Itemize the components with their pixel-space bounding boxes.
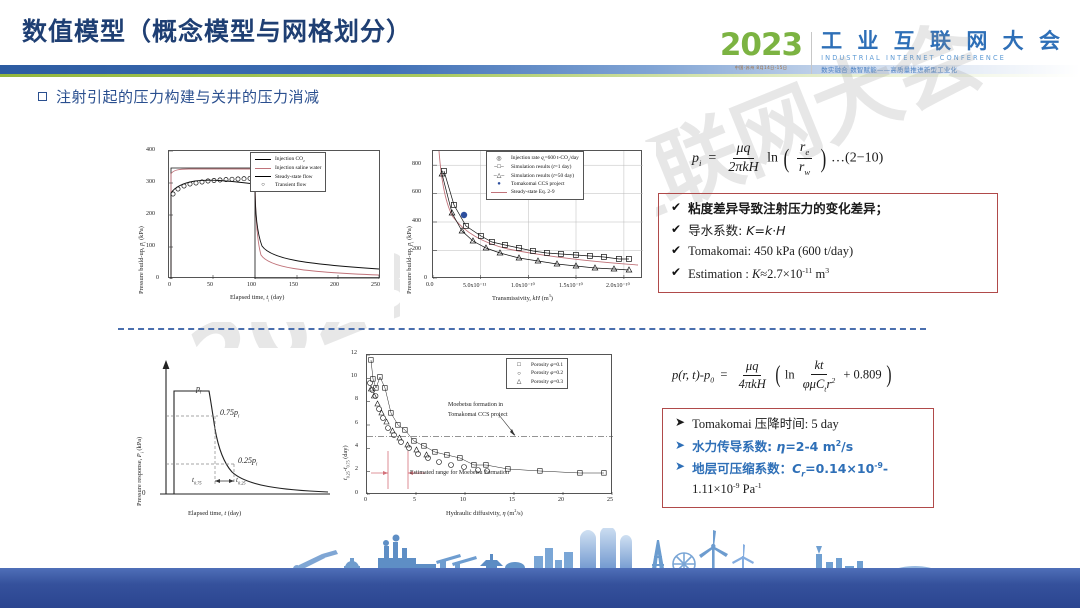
chart1-xtick: 200 bbox=[330, 282, 339, 288]
circle-open-icon: ○ bbox=[511, 371, 527, 377]
eq1-fraction: μq 2πkH bbox=[725, 141, 761, 176]
callout-item: ✔ Estimation : K≈2.7×10-11 m3 bbox=[671, 266, 985, 283]
chart2-x-axis-label: Transmissivity, kH (m3) bbox=[492, 293, 553, 302]
legend-item: ○ Transient flow bbox=[255, 181, 321, 189]
check-icon: ✔ bbox=[671, 266, 681, 279]
logo-year-subtitle: 中国·苏州 8月14日-15日 bbox=[735, 65, 788, 71]
callout-item: ✔ 粘度差异导致注射压力的变化差异； bbox=[671, 201, 985, 217]
legend-label: Simulation results (t=50 day) bbox=[511, 172, 574, 180]
legend-item: Injection saline water bbox=[255, 164, 321, 172]
equation-line-source: p(r, t)-p0 = μq 4πkH ( ln kt φμCtr2 + 0.… bbox=[672, 358, 893, 394]
chart4-ytick: 8 bbox=[355, 396, 358, 402]
legend-item: –△– Simulation results (t=50 day) bbox=[491, 172, 579, 180]
paren-close-icon: ) bbox=[886, 362, 891, 389]
callout-bottom: ➤ Tomakomai 压降时间: 5 day ➤ 水力传导系数: η=2-4 … bbox=[662, 408, 934, 508]
legend-label: Simulation results (t=1 day) bbox=[511, 163, 571, 171]
paren-open-icon: ( bbox=[783, 143, 789, 174]
callout-text: Tomakomai: 450 kPa (600 t/day) bbox=[688, 244, 853, 260]
eq1-inner-fraction: re rw bbox=[796, 140, 813, 177]
legend-item: □ Porosity φ=0.1 bbox=[511, 361, 563, 369]
header-accent-bar-green bbox=[0, 74, 1080, 77]
chart2-y-axis-label: Pressure build-up, pi (kPa) bbox=[406, 226, 414, 294]
callout-item: ✔ 导水系数: K=k·H bbox=[671, 223, 985, 239]
eq2-denominator: 4πkH bbox=[736, 376, 769, 392]
chart4-annotation-range: Estimated range for Moebetsu Formation bbox=[410, 470, 509, 476]
chart4-xtick: 0 bbox=[364, 497, 367, 503]
legend-label: Steady-state Eq. 2-9 bbox=[511, 188, 555, 196]
callout-item: ✔ Tomakomai: 450 kPa (600 t/day) bbox=[671, 244, 985, 260]
chart4-xtick: 25 bbox=[607, 497, 613, 503]
callout-text: 水力传导系数: η=2-4 m2/s bbox=[692, 439, 853, 455]
legend-item: ● Tomakomai CCS project bbox=[491, 180, 579, 188]
callout-text: 导水系数: K=k·H bbox=[688, 223, 786, 239]
legend-item: ◎ Injection rate qi=600 t-CO2/day bbox=[491, 154, 579, 163]
eq1-denominator: 2πkH bbox=[725, 159, 761, 176]
chart3-ytick-zero: 0 bbox=[142, 489, 146, 497]
line-black-icon bbox=[255, 176, 271, 177]
legend-item: Steady-state flow bbox=[255, 173, 321, 181]
arrow-right-icon: ➤ bbox=[675, 439, 685, 452]
chart1-ytick: 200 bbox=[146, 211, 155, 217]
chart1-x-axis-label: Elapsed time, ti (day) bbox=[230, 294, 284, 302]
chart1-ytick: 400 bbox=[146, 147, 155, 153]
chart2-ytick: 0 bbox=[424, 275, 427, 281]
eq2-inner-den: φμCtr2 bbox=[800, 375, 838, 394]
chart2-ytick: 800 bbox=[412, 161, 421, 167]
section-heading-label: 注射引起的压力构建与关井的压力消减 bbox=[56, 86, 320, 107]
legend-item: –□– Simulation results (t=1 day) bbox=[491, 163, 579, 171]
chart2-ytick: 400 bbox=[412, 218, 421, 224]
callout-top: ✔ 粘度差异导致注射压力的变化差异； ✔ 导水系数: K=k·H ✔ Tomak… bbox=[658, 193, 998, 293]
callout-item: ➤ 水力传导系数: η=2-4 m2/s bbox=[675, 439, 921, 455]
chart1-legend: Injection CO2 Injection saline water Ste… bbox=[250, 152, 326, 192]
callout-text: Tomakomai 压降时间: 5 day bbox=[692, 416, 839, 433]
equation-2-10: pi = μq 2πkH ln ( re rw ) …(2−10) bbox=[692, 140, 883, 177]
chart3-annotation-lower: 0.25pi bbox=[238, 456, 257, 468]
chart3-annotation-peak: pi bbox=[196, 384, 201, 396]
chart4-xtick: 20 bbox=[558, 497, 564, 503]
chart4-y-axis-label: t0.25-t0.75 (day) bbox=[342, 445, 350, 480]
chart4-annotation-line2: Tomakomai CCS project bbox=[448, 412, 508, 418]
chart1-ytick: 100 bbox=[146, 243, 155, 249]
chart4-ytick: 0 bbox=[355, 490, 358, 496]
callout-text: 地层可压缩系数：Cr=0.14×10-9- bbox=[692, 461, 888, 476]
conference-logo: 2023 中国·苏州 8月14日-15日 工 业 互 联 网 大 会 INDUS… bbox=[720, 30, 1064, 74]
paren-close-icon: ) bbox=[820, 143, 826, 174]
chart1-xtick: 0 bbox=[168, 282, 171, 288]
callout-text: Estimation : K≈2.7×10-11 m3 bbox=[688, 266, 829, 283]
check-icon: ✔ bbox=[671, 244, 681, 257]
chart2-xtick: 1.5x10⁻¹⁰ bbox=[559, 282, 583, 289]
chart4-x-axis-label: Hydraulic diffusivity, η (m2/s) bbox=[446, 508, 523, 517]
line-black-icon bbox=[255, 159, 271, 160]
callout-item: ➤ 地层可压缩系数：Cr=0.14×10-9- 1.11×10-9 Pa-1 bbox=[675, 460, 921, 497]
chart4-legend: □ Porosity φ=0.1 ○ Porosity φ=0.2 △ Poro… bbox=[506, 358, 568, 389]
check-icon: ✔ bbox=[671, 223, 681, 236]
triangle-open-icon: △ bbox=[511, 379, 527, 385]
chart1-xtick: 150 bbox=[289, 282, 298, 288]
arrow-right-icon: ➤ bbox=[675, 416, 685, 429]
legend-label: Transient flow bbox=[275, 181, 306, 189]
chart3-annotation-t025: t0.25 bbox=[236, 476, 246, 485]
legend-item: Steady-state Eq. 2-9 bbox=[491, 188, 579, 196]
callout-text: 粘度差异导致注射压力的变化差异； bbox=[688, 201, 888, 217]
line-red-icon bbox=[491, 192, 507, 193]
chart4-ytick: 4 bbox=[355, 443, 358, 449]
chart3-annotation-upper: 0.75pi bbox=[220, 408, 239, 420]
logo-slogan: 数实融合 数智赋能——高质量推进新型工业化 bbox=[821, 65, 1064, 74]
legend-item: Injection CO2 bbox=[255, 155, 321, 164]
chart2-xtick: 0.0 bbox=[426, 282, 434, 288]
eq2-fraction: μq 4πkH bbox=[736, 359, 769, 392]
footer-water-gradient bbox=[0, 568, 1080, 608]
chart1-ytick: 300 bbox=[146, 179, 155, 185]
chart3-x-axis-label: Elapsed time, t (day) bbox=[188, 510, 241, 517]
chart-pressure-buildup-time: Pressure build-up, pi (kPa) bbox=[132, 142, 394, 322]
chart4-xtick: 10 bbox=[460, 497, 466, 503]
arrow-right-icon: ➤ bbox=[675, 460, 685, 473]
legend-item: △ Porosity φ=0.3 bbox=[511, 378, 563, 386]
chart4-xtick: 15 bbox=[509, 497, 515, 503]
chart1-xtick: 250 bbox=[371, 282, 380, 288]
eq2-numerator: μq bbox=[743, 359, 762, 376]
legend-label: Porosity φ=0.1 bbox=[531, 361, 563, 369]
chart1-xtick: 50 bbox=[207, 282, 213, 288]
eq2-inner-num: kt bbox=[811, 358, 826, 375]
legend-label: Steady-state flow bbox=[275, 173, 313, 181]
logo-year-block: 2023 中国·苏州 8月14日-15日 bbox=[720, 30, 802, 71]
square-line-icon: –□– bbox=[491, 164, 507, 170]
eq1-inner-den: rw bbox=[796, 159, 813, 177]
triangle-line-icon: –△– bbox=[491, 173, 507, 179]
square-bullet-icon bbox=[38, 92, 47, 101]
slide-root: 数值模型（概念模型与网格划分） 2023 中国·苏州 8月14日-15日 工 业… bbox=[0, 0, 1080, 608]
eq1-numerator: μq bbox=[733, 141, 753, 159]
square-open-icon: □ bbox=[511, 362, 527, 368]
page-title: 数值模型（概念模型与网格划分） bbox=[22, 12, 412, 48]
chart4-xtick: 5 bbox=[413, 497, 416, 503]
check-icon: ✔ bbox=[671, 201, 681, 214]
legend-label: Injection CO2 bbox=[275, 155, 305, 164]
chart2-ytick: 600 bbox=[412, 189, 421, 195]
circled-marker-icon: ◎ bbox=[491, 156, 507, 162]
callout-text-group: 地层可压缩系数：Cr=0.14×10-9- 1.11×10-9 Pa-1 bbox=[692, 460, 888, 497]
section-divider bbox=[118, 328, 926, 330]
chart3-annotation-t075: t0.75 bbox=[192, 476, 202, 485]
eq2-tail: + 0.809 bbox=[843, 368, 881, 382]
circle-open-icon: ○ bbox=[255, 182, 271, 188]
legend-item: ○ Porosity φ=0.2 bbox=[511, 369, 563, 377]
eq1-tag: …(2−10) bbox=[831, 151, 883, 166]
eq1-inner-num: re bbox=[797, 140, 812, 159]
chart2-xtick: 1.0x10⁻¹⁰ bbox=[511, 282, 535, 289]
section-heading: 注射引起的压力构建与关井的压力消减 bbox=[38, 86, 320, 107]
chart1-y-axis-label: Pressure build-up, pi (kPa) bbox=[138, 226, 146, 294]
legend-label: Tomakomai CCS project bbox=[511, 180, 565, 188]
eq1-ln: ln bbox=[767, 151, 778, 166]
eq2-lhs: p(r, t)-p0 bbox=[672, 368, 714, 382]
logo-english-title: INDUSTRIAL INTERNET CONFERENCE bbox=[821, 54, 1064, 62]
legend-label: Porosity φ=0.2 bbox=[531, 369, 563, 377]
logo-text-block: 工 业 互 联 网 大 会 INDUSTRIAL INTERNET CONFER… bbox=[821, 30, 1064, 74]
callout-text-continuation: 1.11×10-9 Pa-1 bbox=[692, 482, 762, 496]
chart4-ytick: 10 bbox=[351, 373, 357, 379]
chart-decay-time-vs-diffusivity: t0.25-t0.75 (day) bbox=[338, 348, 628, 533]
chart2-ytick: 200 bbox=[412, 246, 421, 252]
chart4-annotation-line1: Moebetsu formation in bbox=[448, 402, 503, 408]
chart4-ytick: 6 bbox=[355, 420, 358, 426]
chart1-xtick: 100 bbox=[247, 282, 256, 288]
legend-label: Porosity φ=0.3 bbox=[531, 378, 563, 386]
chart4-ytick: 12 bbox=[351, 350, 357, 356]
eq2-ln: ln bbox=[785, 368, 795, 382]
logo-year: 2023 bbox=[720, 30, 802, 61]
callout-item: ➤ Tomakomai 压降时间: 5 day bbox=[675, 416, 921, 433]
blue-dot-icon: ● bbox=[491, 181, 507, 187]
chart2-xtick: 2.0x10⁻¹⁰ bbox=[606, 282, 630, 289]
chart-pressure-response-schematic: Pressure response, Pi (kPa) 0 Elapsed ti… bbox=[128, 348, 338, 533]
logo-chinese-title: 工 业 互 联 网 大 会 bbox=[821, 30, 1064, 52]
chart2-xtick: 5.0x10⁻¹¹ bbox=[463, 282, 486, 289]
chart-pressure-vs-transmissivity: Pressure build-up, pi (kPa) bbox=[400, 142, 656, 322]
eq1-lhs: pi bbox=[692, 151, 701, 166]
chart4-ytick: 2 bbox=[355, 466, 358, 472]
paren-open-icon: ( bbox=[775, 362, 780, 389]
chart2-legend: ◎ Injection rate qi=600 t-CO2/day –□– Si… bbox=[486, 151, 584, 200]
logo-divider bbox=[811, 32, 812, 74]
chart1-ytick: 0 bbox=[156, 275, 159, 281]
line-red-icon bbox=[255, 168, 271, 169]
footer-banner bbox=[0, 528, 1080, 608]
legend-label: Injection rate qi=600 t-CO2/day bbox=[511, 154, 579, 163]
eq2-inner-fraction: kt φμCtr2 bbox=[800, 358, 838, 394]
legend-label: Injection saline water bbox=[275, 164, 321, 172]
